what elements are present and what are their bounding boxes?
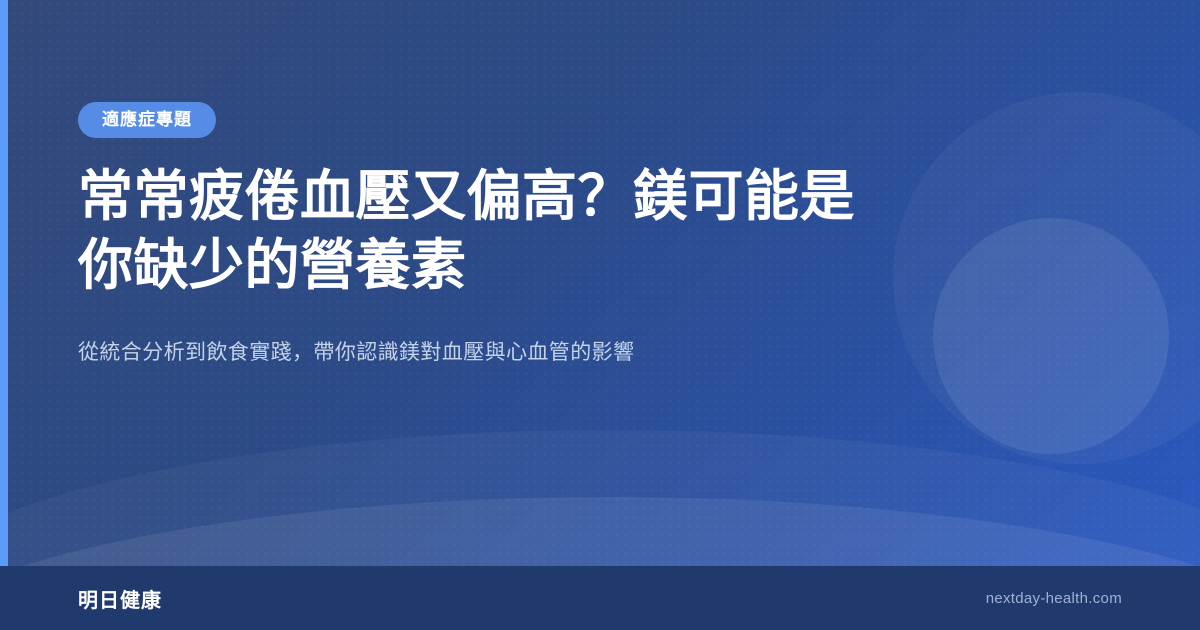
og-share-card: 適應症專題 常常疲倦血壓又偏高？鎂可能是你缺少的營養素 從統合分析到飲食實踐，帶… (0, 0, 1200, 630)
page-subtitle: 從統合分析到飲食實踐，帶你認識鎂對血壓與心血管的影響 (78, 337, 868, 370)
category-badge: 適應症專題 (78, 102, 216, 138)
left-accent-bar (0, 0, 8, 566)
footer-brand-name: 明日健康 (78, 584, 162, 613)
footer-bar: 明日健康 nextday-health.com (0, 566, 1200, 630)
footer-domain: nextday-health.com (986, 590, 1122, 607)
page-title: 常常疲倦血壓又偏高？鎂可能是你缺少的營養素 (78, 162, 908, 301)
card-content: 適應症專題 常常疲倦血壓又偏高？鎂可能是你缺少的營養素 從統合分析到飲食實踐，帶… (78, 0, 978, 369)
